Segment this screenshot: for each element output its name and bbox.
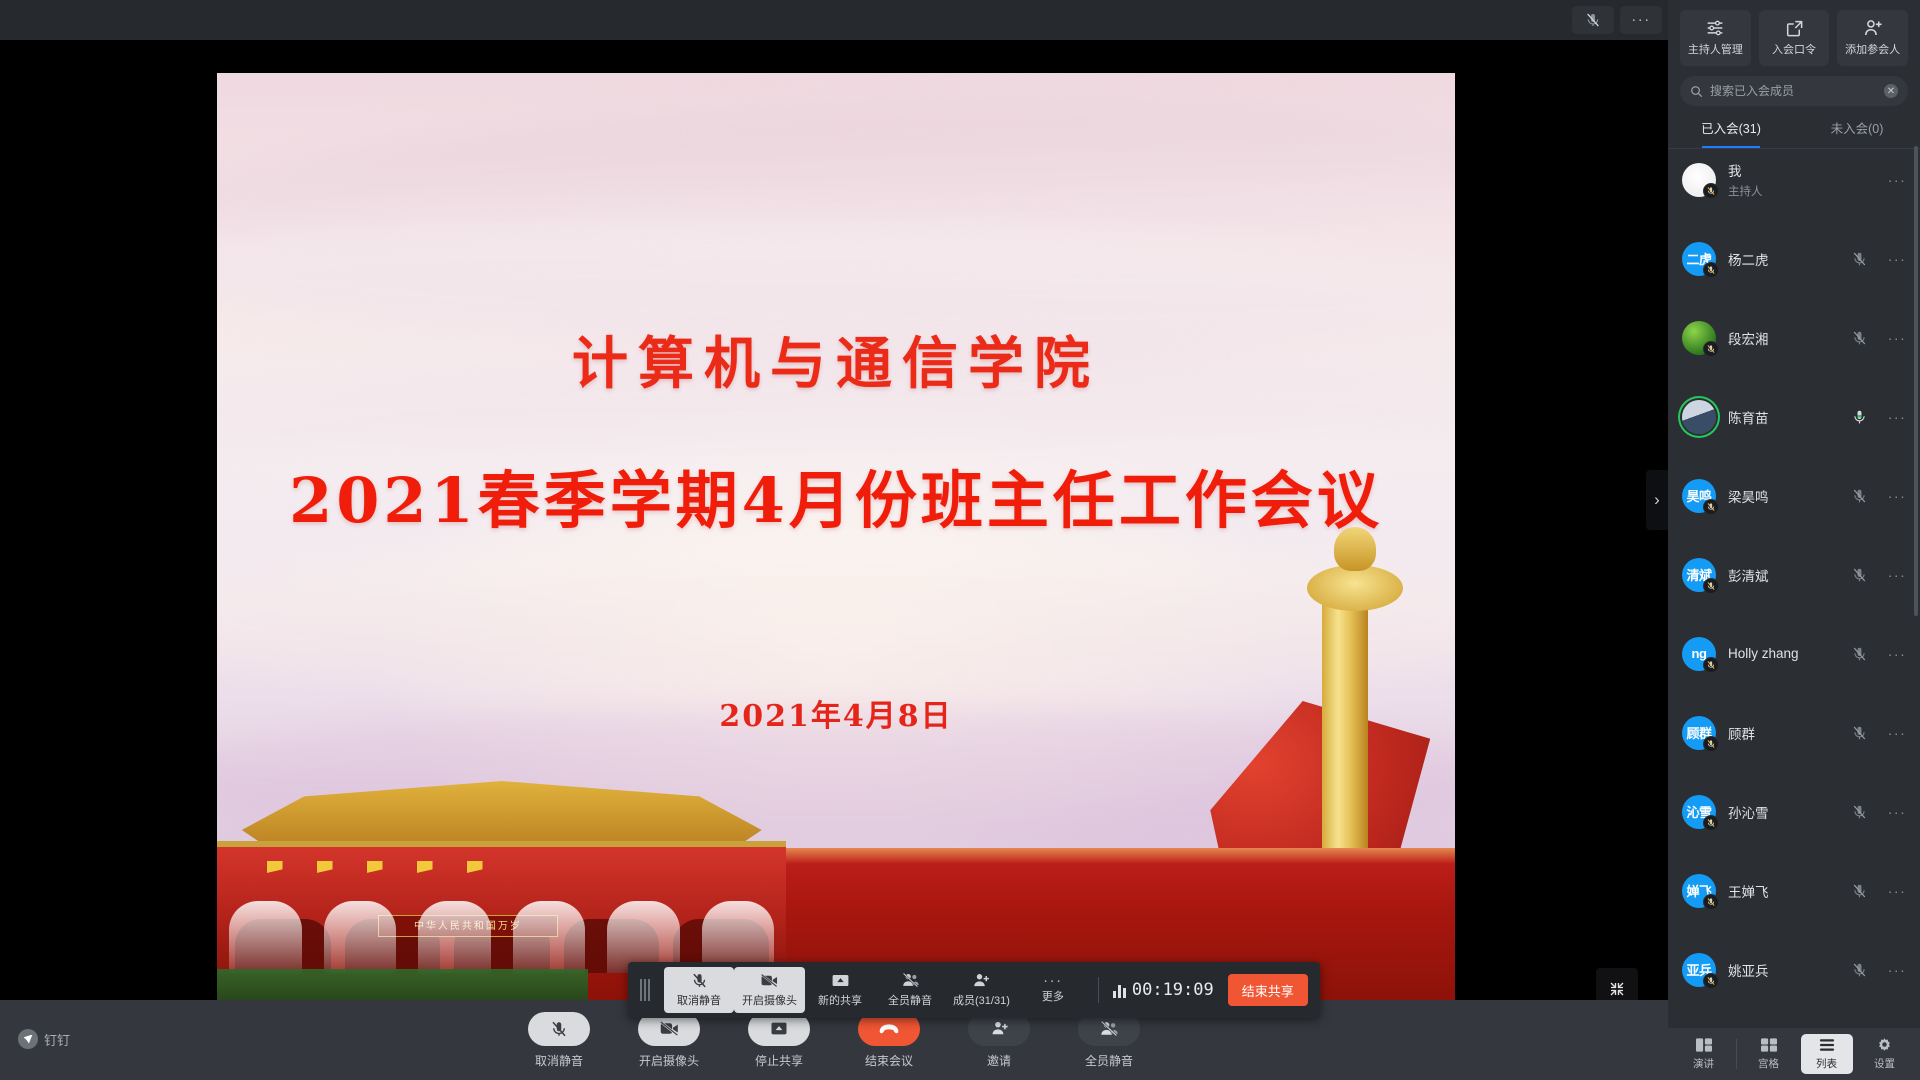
participant-mic-toggle[interactable]	[1846, 961, 1872, 979]
bottom-mute-all-button[interactable]: 全员静音	[1069, 1012, 1149, 1069]
participant-mic-toggle[interactable]	[1846, 487, 1872, 505]
participant-row[interactable]: 清斌彭清斌···	[1668, 535, 1920, 614]
participant-info: 我主持人	[1728, 160, 1834, 199]
participant-name: 杨二虎	[1728, 249, 1834, 269]
participant-mic-toggle[interactable]	[1846, 566, 1872, 584]
participant-name: 孙沁雪	[1728, 802, 1834, 822]
share-toolbar-item-label: 新的共享	[818, 992, 862, 1008]
view-switch-label: 列表	[1816, 1056, 1837, 1071]
participant-avatar: 顾群	[1682, 716, 1716, 750]
participant-name: 彭清斌	[1728, 565, 1834, 585]
invite-user-icon	[990, 1020, 1009, 1037]
add-person-icon	[1863, 19, 1883, 37]
dingtalk-meeting-window: ···	[0, 0, 1920, 1080]
mic-muted-icon	[1706, 502, 1716, 512]
shared-slide: 中华人民共和国万岁 计算机与	[217, 73, 1455, 1000]
mic-muted-icon	[1851, 645, 1868, 663]
participant-info: 孙沁雪	[1728, 802, 1834, 822]
view-presentation-button[interactable]: 演讲	[1678, 1034, 1730, 1074]
search-icon	[1690, 85, 1703, 98]
participant-avatar: 昊鸣	[1682, 479, 1716, 513]
participant-avatar: 婵飞	[1682, 874, 1716, 908]
share-toolbar-more-button[interactable]: ··· 更多	[1018, 967, 1088, 1013]
avatar-mic-muted-badge	[1703, 973, 1719, 989]
participant-info: 顾群	[1728, 723, 1834, 743]
panel-view-switcher: 演讲 宫格 列表 设置	[1668, 1028, 1920, 1080]
slide-subtitle: 2021春季学期4月份班主任工作会议	[217, 450, 1455, 540]
participant-mic-toggle[interactable]	[1846, 250, 1872, 268]
mic-muted-icon	[1706, 976, 1716, 986]
panel-search-row: ✕	[1668, 74, 1920, 114]
bottom-action-label: 取消静音	[535, 1052, 583, 1069]
participant-more-button[interactable]: ···	[1884, 887, 1910, 895]
shared-screen-stage: 中华人民共和国万岁 计算机与	[0, 40, 1668, 1000]
view-grid-button[interactable]: 宫格	[1743, 1034, 1795, 1074]
participant-avatar: 清斌	[1682, 558, 1716, 592]
bottom-invite-button[interactable]: 邀请	[959, 1012, 1039, 1069]
participant-avatar	[1682, 400, 1716, 434]
mic-muted-icon	[1851, 250, 1868, 268]
participant-mic-toggle[interactable]	[1846, 882, 1872, 900]
avatar-mic-muted-badge	[1703, 578, 1719, 594]
search-input[interactable]	[1710, 84, 1877, 98]
participant-mic-toggle[interactable]	[1846, 329, 1872, 347]
bottom-stop-share-button[interactable]: 停止共享	[739, 1012, 819, 1069]
sliders-icon	[1705, 19, 1725, 37]
presentation-view-icon	[1695, 1037, 1713, 1053]
participant-info: Holly zhang	[1728, 646, 1834, 661]
window-titlebar: ···	[0, 0, 1668, 40]
share-toolbar-mute-all-button[interactable]: 全员静音	[875, 967, 945, 1013]
participant-info: 段宏湘	[1728, 328, 1834, 348]
participants-panel: 主持人管理 入会口令 添加参会人	[1668, 0, 1920, 1080]
participant-more-button[interactable]: ···	[1884, 255, 1910, 263]
chevron-right-icon: ›	[1654, 490, 1660, 510]
screen-share-icon	[831, 972, 850, 989]
gear-icon	[1876, 1037, 1893, 1053]
participant-more-button[interactable]: ···	[1884, 571, 1910, 579]
participant-more-button[interactable]: ···	[1884, 808, 1910, 816]
add-participant-button[interactable]: 添加参会人	[1837, 10, 1908, 66]
participant-name: 王婵飞	[1728, 881, 1834, 901]
exit-fullscreen-icon	[1608, 980, 1626, 998]
mute-all-icon	[1099, 1020, 1119, 1038]
participant-list[interactable]: 我主持人···二虎杨二虎···段宏湘···陈育苗···昊鸣梁昊鸣···清斌彭清斌…	[1668, 140, 1920, 1028]
participant-row[interactable]: 贤虎曾贤虎···	[1668, 1009, 1920, 1028]
mic-muted-icon	[691, 972, 708, 989]
more-dots-icon: ···	[1631, 16, 1651, 24]
participant-row[interactable]: 亚兵姚亚兵···	[1668, 930, 1920, 1009]
participant-name: 梁昊鸣	[1728, 486, 1834, 506]
mic-muted-icon	[1851, 566, 1868, 584]
avatar-mic-muted-badge	[1703, 341, 1719, 357]
mic-muted-icon	[550, 1020, 568, 1038]
participant-more-button[interactable]: ···	[1884, 966, 1910, 974]
mic-muted-icon	[1706, 581, 1716, 591]
participant-more-button[interactable]: ···	[1884, 413, 1910, 421]
share-toolbar-unmute-button[interactable]: 取消静音	[664, 967, 734, 1013]
avatar-mic-muted-badge	[1703, 499, 1719, 515]
avatar-mic-muted-badge	[1703, 183, 1719, 199]
participant-more-button[interactable]: ···	[1884, 176, 1910, 184]
avatar-mic-muted-badge	[1703, 815, 1719, 831]
settings-button[interactable]: 设置	[1859, 1034, 1911, 1074]
share-toolbar-item-label: 成员(31/31)	[953, 992, 1010, 1008]
bottom-action-label: 开启摄像头	[639, 1052, 699, 1069]
view-switch-label: 设置	[1874, 1056, 1895, 1071]
participant-name: 顾群	[1728, 723, 1834, 743]
participant-info: 姚亚兵	[1728, 960, 1834, 980]
mute-all-icon	[901, 972, 920, 989]
floating-share-toolbar: 取消静音 开启摄像头 新的共享	[628, 962, 1320, 1018]
stop-share-icon	[769, 1020, 789, 1037]
view-list-button[interactable]: 列表	[1801, 1034, 1853, 1074]
stage-area: ···	[0, 0, 1668, 1080]
share-toolbar-item-label: 取消静音	[677, 992, 721, 1008]
panel-top-actions: 主持人管理 入会口令 添加参会人	[1668, 0, 1920, 74]
slide-text-layer: 计算机与通信学院 2021春季学期4月份班主任工作会议 2021年4月8日	[217, 73, 1455, 1000]
panel-top-label: 入会口令	[1772, 41, 1816, 57]
mic-muted-icon	[1851, 882, 1868, 900]
participant-more-button[interactable]: ···	[1884, 492, 1910, 500]
slide-date: 2021年4月8日	[217, 691, 1455, 735]
participant-avatar	[1682, 163, 1716, 197]
participant-info: 梁昊鸣	[1728, 486, 1834, 506]
view-switch-label: 宫格	[1758, 1056, 1779, 1071]
participant-name: Holly zhang	[1728, 646, 1834, 661]
share-toolbar-participants-button[interactable]: 成员(31/31)	[945, 967, 1018, 1013]
mic-muted-icon	[1706, 739, 1716, 749]
bottom-camera-button[interactable]: 开启摄像头	[629, 1012, 709, 1069]
join-passcode-button[interactable]: 入会口令	[1759, 10, 1830, 66]
hangup-icon	[878, 1022, 900, 1036]
participant-mic-toggle[interactable]	[1846, 803, 1872, 821]
camera-off-icon	[659, 1020, 680, 1037]
participant-name: 我	[1728, 160, 1834, 180]
mic-muted-icon	[1851, 487, 1868, 505]
participant-role: 主持人	[1728, 183, 1834, 199]
search-box[interactable]: ✕	[1680, 76, 1908, 106]
participant-name: 段宏湘	[1728, 328, 1834, 348]
participant-row[interactable]: 二虎杨二虎···	[1668, 219, 1920, 298]
mic-muted-icon	[1851, 803, 1868, 821]
drag-grip-icon[interactable]	[640, 979, 656, 1001]
panel-top-label: 主持人管理	[1688, 41, 1743, 57]
participant-row[interactable]: 婵飞王婵飞···	[1668, 851, 1920, 930]
participant-row[interactable]: 段宏湘···	[1668, 298, 1920, 377]
share-toolbar-camera-button[interactable]: 开启摄像头	[734, 967, 805, 1013]
participant-mic-toggle[interactable]	[1846, 645, 1872, 663]
more-dots-icon: ···	[1043, 977, 1063, 985]
bottom-unmute-pill	[528, 1012, 590, 1046]
mic-muted-icon	[1706, 344, 1716, 354]
participant-mic-toggle[interactable]	[1846, 724, 1872, 742]
participant-info: 彭清斌	[1728, 565, 1834, 585]
mic-muted-icon	[1706, 818, 1716, 828]
mic-muted-icon	[1851, 329, 1868, 347]
mic-muted-icon	[1851, 961, 1868, 979]
participant-name: 陈育苗	[1728, 407, 1834, 427]
share-toolbar-item-label: 全员静音	[888, 992, 932, 1008]
share-toolbar-item-label: 开启摄像头	[742, 992, 797, 1008]
bottom-end-meeting-button[interactable]: 结束会议	[849, 1012, 929, 1069]
mic-muted-icon	[1585, 12, 1601, 28]
participant-info: 王婵飞	[1728, 881, 1834, 901]
participant-info: 杨二虎	[1728, 249, 1834, 269]
participant-avatar: 二虎	[1682, 242, 1716, 276]
bottom-action-label: 停止共享	[755, 1052, 803, 1069]
participant-mic-toggle[interactable]	[1846, 408, 1872, 426]
mic-muted-icon	[1706, 186, 1716, 196]
audio-level-icon	[1113, 982, 1126, 998]
bottom-action-label: 邀请	[987, 1052, 1011, 1069]
participant-avatar: 沁雪	[1682, 795, 1716, 829]
mic-active-icon	[1851, 408, 1868, 426]
participant-row[interactable]: 我主持人···	[1668, 140, 1920, 219]
mic-muted-icon	[1706, 660, 1716, 670]
mic-muted-icon	[1706, 897, 1716, 907]
panel-top-label: 添加参会人	[1845, 41, 1900, 57]
camera-off-icon	[760, 972, 779, 989]
participant-row[interactable]: 顾群顾群···	[1668, 693, 1920, 772]
participant-avatar	[1682, 321, 1716, 355]
participant-avatar: 亚兵	[1682, 953, 1716, 987]
titlebar-more-button[interactable]: ···	[1620, 6, 1662, 34]
avatar-mic-muted-badge	[1703, 736, 1719, 752]
participant-row[interactable]: 陈育苗···	[1668, 377, 1920, 456]
clear-circle-icon[interactable]: ✕	[1884, 84, 1898, 98]
bottom-action-label: 全员静音	[1085, 1052, 1133, 1069]
participant-row[interactable]: 昊鸣梁昊鸣···	[1668, 456, 1920, 535]
panel-collapse-handle[interactable]: ›	[1646, 470, 1668, 530]
avatar-mic-muted-badge	[1703, 262, 1719, 278]
view-switcher-divider	[1736, 1039, 1737, 1069]
participant-name: 姚亚兵	[1728, 960, 1834, 980]
participant-info: 陈育苗	[1728, 407, 1834, 427]
toolbar-divider	[1098, 977, 1099, 1003]
participant-more-button[interactable]: ···	[1884, 334, 1910, 342]
host-management-button[interactable]: 主持人管理	[1680, 10, 1751, 66]
participant-more-button[interactable]: ···	[1884, 729, 1910, 737]
participants-icon	[972, 972, 990, 989]
external-link-icon	[1785, 19, 1804, 37]
grid-view-icon	[1760, 1037, 1778, 1053]
end-share-button[interactable]: 结束共享	[1228, 974, 1308, 1006]
titlebar-mic-button[interactable]	[1572, 6, 1614, 34]
participant-row[interactable]: 沁雪孙沁雪···	[1668, 772, 1920, 851]
bottom-unmute-button[interactable]: 取消静音	[519, 1012, 599, 1069]
participant-row[interactable]: ngHolly zhang···	[1668, 614, 1920, 693]
avatar-mic-muted-badge	[1703, 657, 1719, 673]
participant-avatar: ng	[1682, 637, 1716, 671]
participant-more-button[interactable]: ···	[1884, 650, 1910, 658]
view-switch-label: 演讲	[1693, 1056, 1714, 1071]
mic-muted-icon	[1851, 724, 1868, 742]
share-toolbar-item-label: 更多	[1042, 988, 1064, 1004]
share-toolbar-new-share-button[interactable]: 新的共享	[805, 967, 875, 1013]
list-view-icon	[1818, 1037, 1836, 1053]
bottom-action-label: 结束会议	[865, 1052, 913, 1069]
mic-muted-icon	[1706, 265, 1716, 275]
avatar-mic-muted-badge	[1703, 894, 1719, 910]
participant-list-scrollbar[interactable]	[1914, 146, 1918, 616]
slide-title: 计算机与通信学院	[217, 319, 1455, 400]
meeting-timer: 00:19:09	[1132, 980, 1214, 1000]
